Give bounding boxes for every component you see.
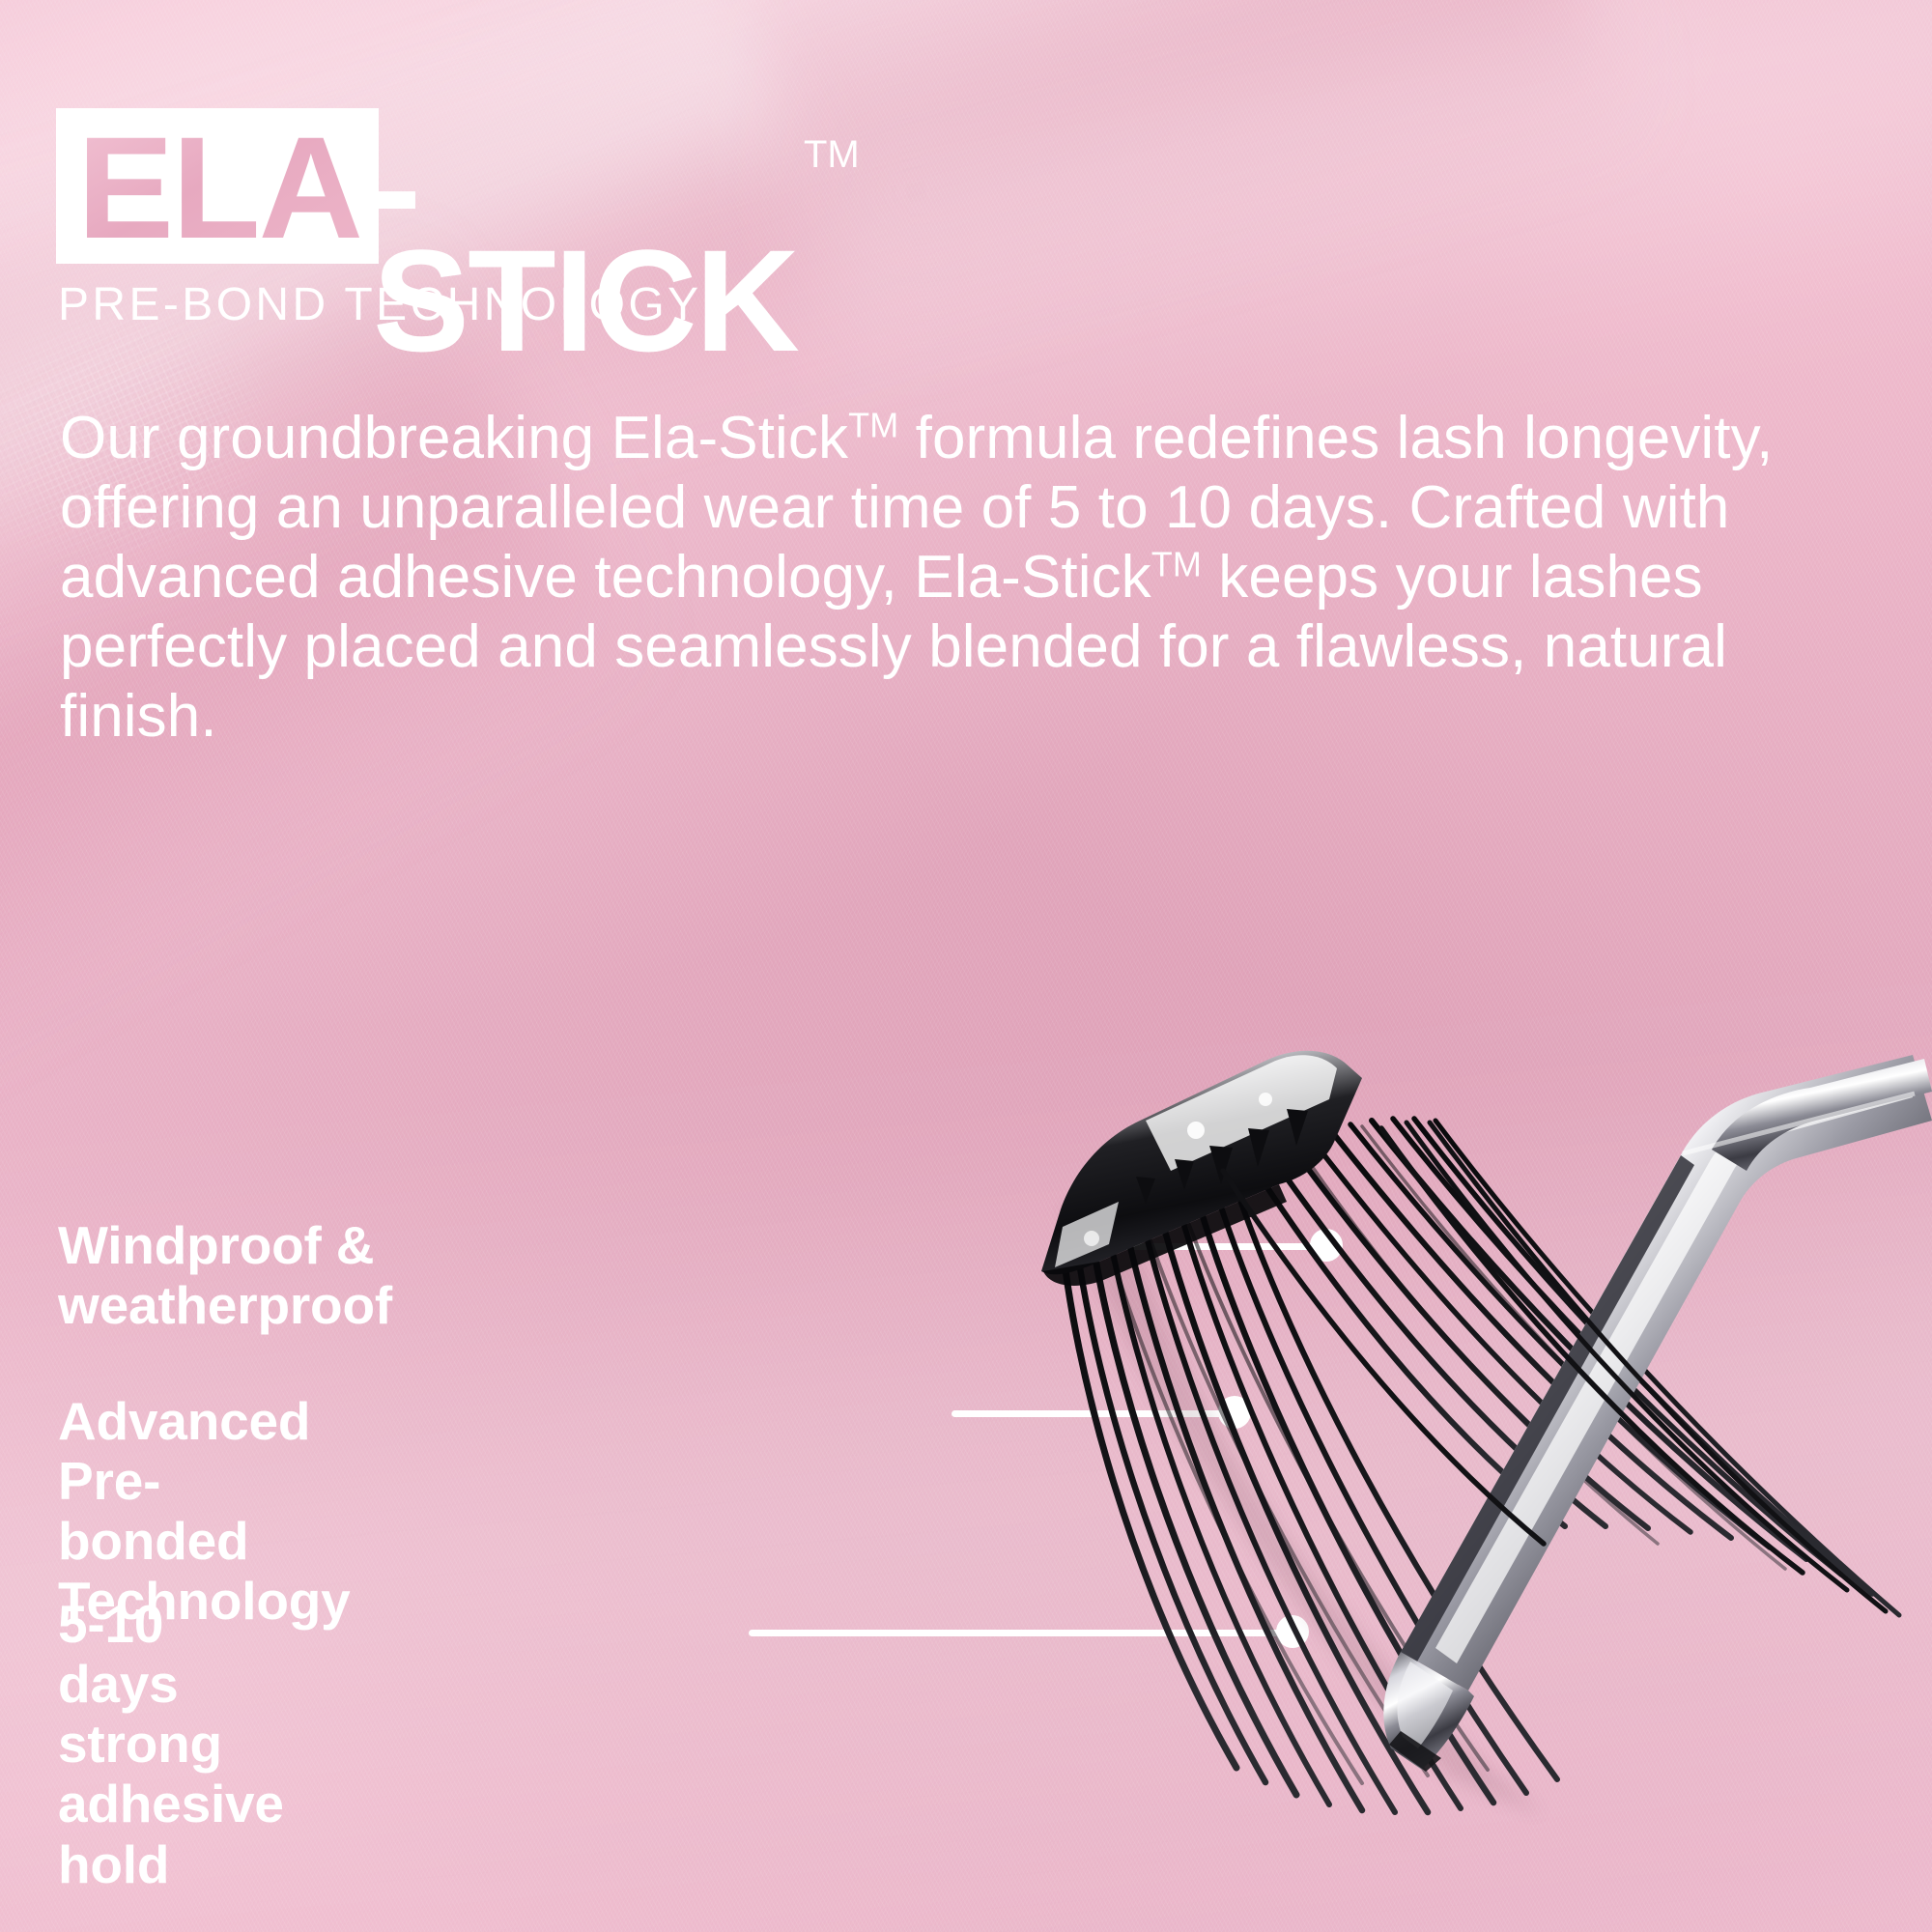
feature-connector: [952, 1396, 1251, 1429]
connector-line: [1106, 1243, 1314, 1250]
feature-list: Windproof & weatherproof Advanced Pre-bo…: [0, 0, 1932, 1932]
connector-line: [749, 1630, 1280, 1636]
poster-canvas: ELA -STICK TM PRE-BOND TECHNOLOGY Our gr…: [0, 0, 1932, 1932]
feature-connector: [1106, 1229, 1343, 1262]
feature-connector: [749, 1615, 1309, 1648]
feature-label: 5-10 days strong adhesive hold: [58, 1594, 284, 1894]
connector-dot: [1218, 1396, 1251, 1429]
feature-label: Windproof & weatherproof: [58, 1215, 392, 1335]
connector-dot: [1310, 1229, 1343, 1262]
connector-dot: [1276, 1615, 1309, 1648]
connector-line: [952, 1410, 1222, 1417]
